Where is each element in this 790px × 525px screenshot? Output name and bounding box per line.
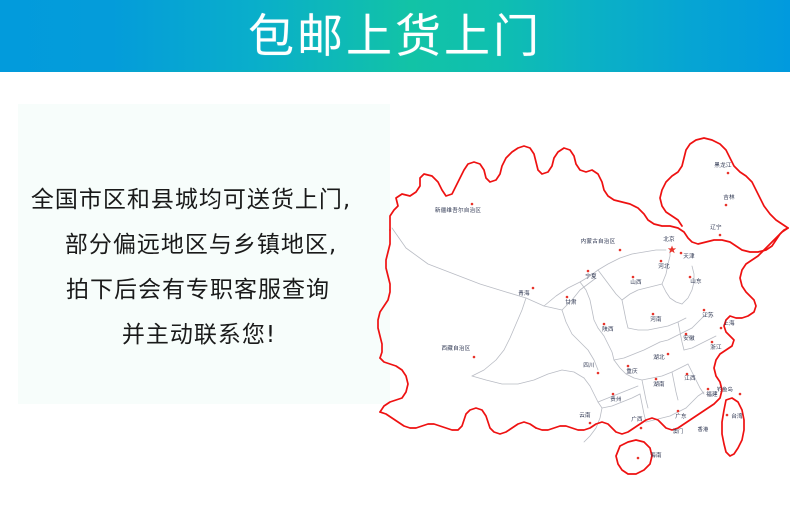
map-marker-dot — [603, 323, 606, 326]
map-marker-dot — [680, 252, 683, 255]
map-marker-dot — [619, 249, 622, 252]
map-label-hunan: 湖南 — [653, 378, 665, 388]
map-label-henan: 河南 — [650, 313, 662, 323]
map-label-text: 广西 — [631, 415, 643, 423]
map-marker-dot — [627, 365, 630, 368]
map-label-text: 澳门 — [673, 427, 684, 435]
china-map: 新疆维吾尔自治区 西藏自治区 青海 甘肃 内蒙古自治区 — [376, 78, 790, 518]
map-label-inner-mongolia: 内蒙古自治区 — [581, 237, 622, 251]
map-marker-dot — [566, 296, 569, 299]
map-marker-dot — [720, 327, 723, 330]
map-label-text: 四川 — [583, 362, 595, 369]
map-label-text: 山西 — [630, 278, 642, 286]
map-marker-dot — [652, 313, 655, 316]
map-marker-dot — [589, 422, 592, 425]
map-label-text: 湖北 — [653, 353, 665, 361]
map-label-text: 浙江 — [710, 343, 722, 351]
map-province-borders — [392, 228, 716, 442]
map-marker-dot — [597, 372, 600, 375]
map-label-xinjiang: 新疆维吾尔自治区 — [435, 203, 482, 214]
map-label-qinghai: 青海 — [518, 287, 534, 297]
map-label-text: 陕西 — [602, 325, 614, 333]
map-label-shandong: 山东 — [689, 276, 702, 285]
map-marker-dot — [711, 341, 714, 344]
map-label-text: 钓鱼岛 — [717, 385, 733, 393]
map-label-text: 重庆 — [626, 367, 638, 375]
copy-line-2: 部分偏远地区与乡镇地区, — [14, 223, 382, 268]
map-marker-dot — [686, 373, 689, 376]
map-label-text: 贵州 — [610, 395, 622, 403]
map-national-outline — [378, 138, 788, 474]
map-label-jiangxi: 江西 — [684, 373, 696, 382]
map-marker-dot — [637, 457, 640, 460]
map-label-guangxi: 广西 — [631, 415, 643, 429]
banner-underline — [0, 70, 790, 72]
header-banner: 包邮上货上门 — [0, 0, 790, 72]
map-label-text: 江西 — [684, 375, 696, 382]
map-marker-dot — [719, 234, 722, 237]
capital-star-icon — [668, 246, 676, 254]
map-label-jilin: 吉林 — [723, 193, 735, 206]
map-label-guizhou: 贵州 — [610, 393, 622, 403]
map-label-jiangsu: 江苏 — [702, 309, 714, 319]
map-label-guangdong: 广东 — [675, 410, 687, 420]
map-label-text: 云南 — [579, 411, 591, 419]
map-label-tibet: 西藏自治区 — [442, 344, 476, 358]
map-label-hebei: 河北 — [658, 260, 670, 270]
banner-title: 包邮上货上门 — [0, 0, 790, 72]
map-label-text: 河南 — [650, 315, 662, 323]
map-label-taiwan: 台湾 — [726, 412, 743, 420]
map-label-hainan: 海南 — [637, 451, 662, 459]
map-marker-dot — [532, 287, 535, 290]
map-label-yunnan: 云南 — [579, 411, 591, 424]
map-marker-dot — [727, 172, 730, 175]
map-label-hongkong: 香港 — [698, 425, 709, 433]
map-label-text: 上海 — [723, 319, 735, 327]
map-label-text: 台湾 — [731, 412, 743, 420]
map-label-text: 内蒙古自治区 — [581, 237, 616, 245]
map-marker-dot — [667, 353, 670, 356]
map-label-text: 吉林 — [723, 193, 735, 201]
map-label-macau: 澳门 — [673, 427, 684, 435]
map-label-text: 山东 — [690, 277, 702, 285]
map-marker-dot — [655, 378, 658, 381]
map-label-text: 安徽 — [683, 334, 695, 342]
map-marker-dot — [689, 276, 692, 279]
map-marker-dot — [707, 388, 710, 391]
map-label-text: 青海 — [518, 289, 530, 297]
map-label-text: 辽宁 — [710, 223, 722, 231]
map-marker-dot — [739, 393, 742, 396]
map-marker-dot — [660, 260, 663, 263]
map-label-text: 新疆维吾尔自治区 — [435, 206, 482, 214]
map-label-heilongjiang: 黑龙江 — [714, 161, 732, 174]
map-label-text: 宁夏 — [585, 272, 597, 280]
map-label-text: 香港 — [698, 425, 709, 433]
map-label-text: 西藏自治区 — [442, 344, 471, 352]
map-label-shanxi: 山西 — [630, 276, 642, 286]
map-label-text: 河北 — [658, 262, 670, 270]
map-label-anhui: 安徽 — [683, 333, 695, 342]
map-marker-dot — [725, 204, 728, 207]
map-label-shaanxi: 陕西 — [602, 323, 614, 333]
promo-banner-image: 包邮上货上门 全国市区和县城均可送货上门, 部分偏远地区与乡镇地区, 拍下后会有… — [0, 0, 790, 525]
map-label-zhejiang: 浙江 — [710, 341, 722, 351]
map-marker-dot — [587, 270, 590, 273]
map-label-gansu: 甘肃 — [565, 296, 577, 306]
shipping-copy: 全国市区和县城均可送货上门, 部分偏远地区与乡镇地区, 拍下后会有专职客服查询 … — [14, 178, 382, 358]
map-marker-dot — [685, 333, 688, 336]
copy-line-4: 并主动联系您! — [14, 313, 382, 358]
map-label-liaoning: 辽宁 — [710, 223, 722, 236]
map-label-text: 甘肃 — [565, 298, 577, 306]
map-label-text: 广东 — [675, 412, 687, 420]
map-marker-dot — [473, 356, 476, 359]
map-label-text: 湖南 — [653, 380, 665, 388]
map-marker-dot — [677, 410, 680, 413]
map-label-text: 江苏 — [702, 311, 714, 319]
map-marker-dot — [632, 276, 635, 279]
map-marker-dot — [471, 203, 474, 206]
map-marker-dot — [703, 309, 706, 312]
map-marker-dot — [612, 393, 615, 396]
copy-line-3: 拍下后会有专职客服查询 — [14, 268, 382, 313]
copy-line-1: 全国市区和县城均可送货上门, — [14, 178, 382, 223]
map-label-text: 黑龙江 — [714, 161, 732, 169]
map-marker-dot — [640, 427, 643, 430]
map-label-text: 北京 — [663, 235, 675, 243]
map-label-chongqing: 重庆 — [626, 365, 638, 375]
map-marker-dot — [726, 414, 729, 417]
map-label-hubei: 湖北 — [653, 353, 669, 361]
map-label-tianjin: 天津 — [680, 252, 695, 260]
map-label-text: 海南 — [650, 451, 662, 459]
map-label-ningxia: 宁夏 — [585, 270, 597, 280]
map-label-text: 天津 — [683, 253, 695, 260]
map-label-shanghai: 上海 — [720, 319, 735, 329]
